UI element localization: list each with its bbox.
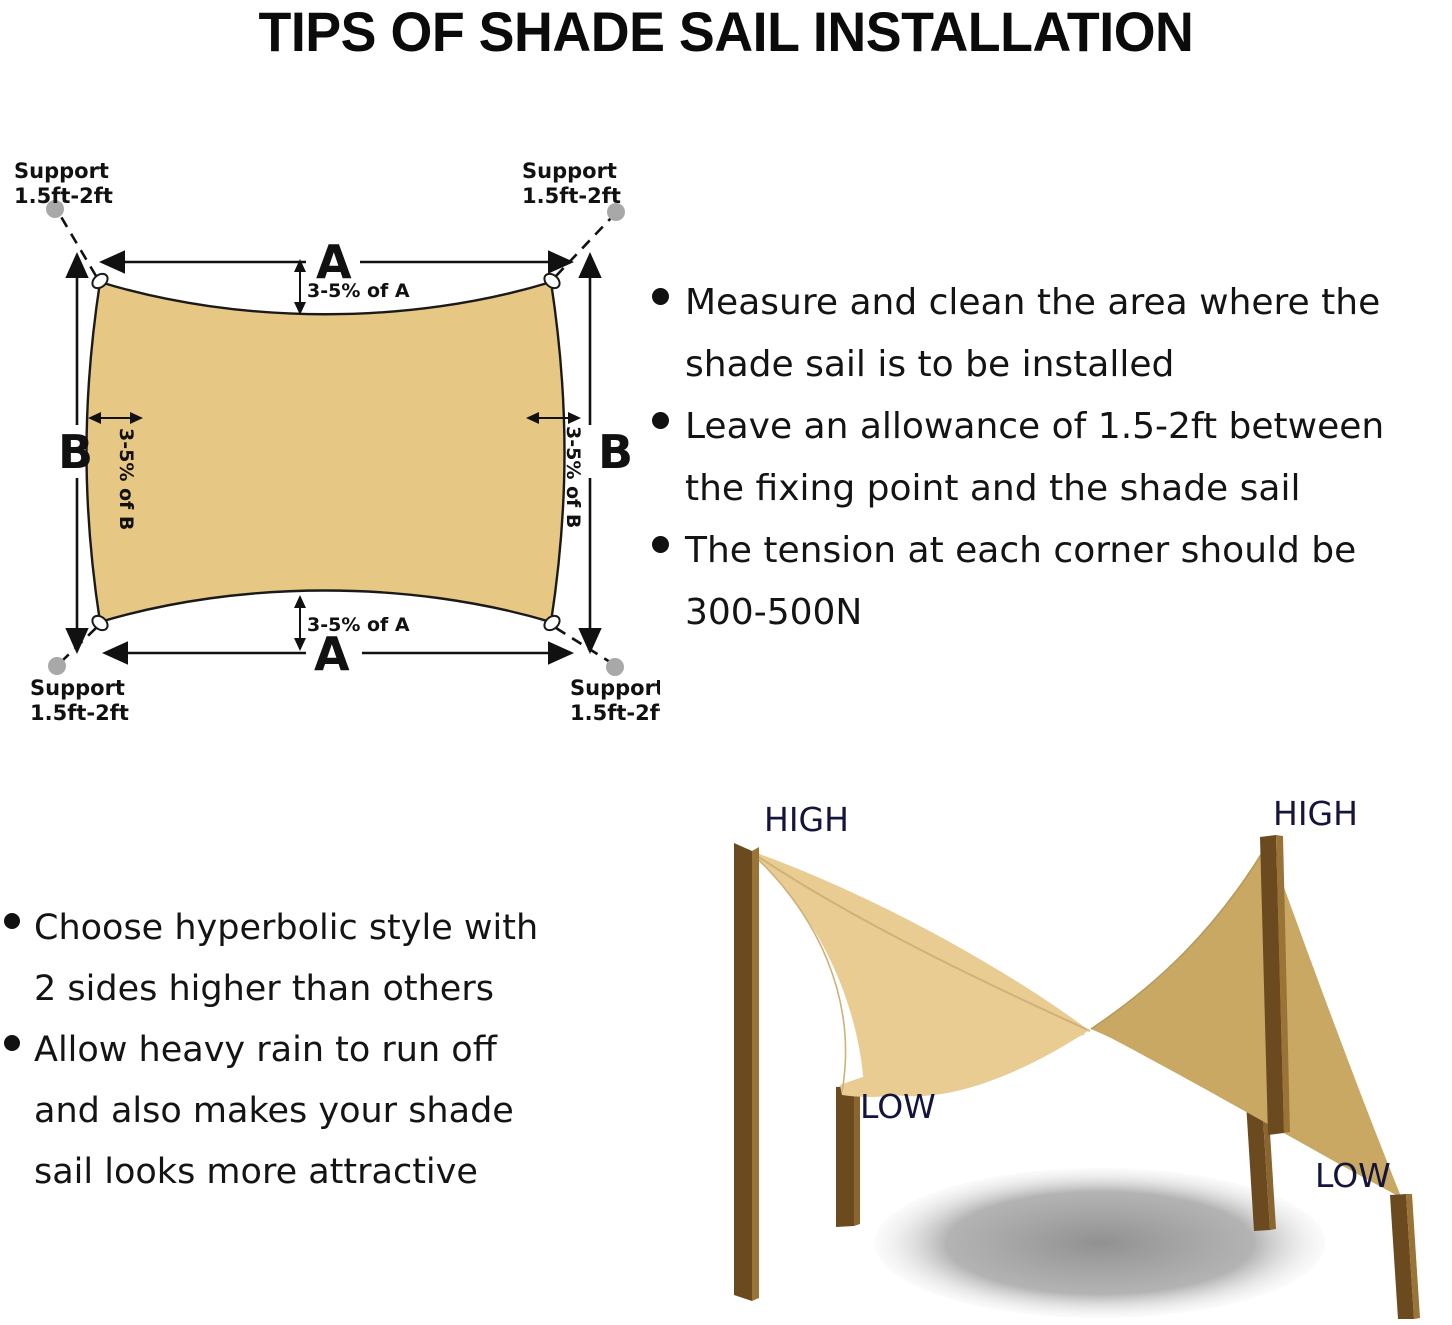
tips-list-top: Measure and clean the area where the sha…	[652, 272, 1452, 644]
label-high-right: HIGH	[1273, 795, 1358, 833]
svg-text:Support: Support	[570, 676, 660, 700]
list-item: Measure and clean the area where the	[652, 272, 1452, 334]
list-item-line: Choose hyperbolic style with	[34, 898, 538, 959]
bullet-dot-icon	[4, 913, 20, 929]
list-item: The tension at each corner should be	[652, 520, 1452, 582]
list-item-line: the fixing point and the shade sail	[685, 458, 1300, 520]
list-item-continuation: and also makes your shade	[4, 1081, 624, 1142]
support-label-bottom-left: Support 1.5ft-2ft	[30, 676, 129, 725]
bullet-spacer	[652, 598, 669, 615]
bullet-spacer	[652, 474, 669, 491]
support-label-top-left: Support 1.5ft-2ft	[14, 159, 113, 208]
svg-text:1.5ft-2ft: 1.5ft-2ft	[570, 701, 660, 725]
bullet-dot-icon	[4, 1035, 20, 1051]
support-label-bottom-right: Support 1.5ft-2ft	[570, 676, 660, 725]
support-label-top-right: Support 1.5ft-2ft	[522, 159, 621, 208]
page-header: TIPS OF SHADE SAIL INSTALLATION	[0, 0, 1452, 62]
label-low-right: LOW	[1315, 1156, 1391, 1195]
list-item: Allow heavy rain to run off	[4, 1020, 624, 1081]
dimension-b-right: B	[590, 278, 633, 628]
post-low-right-outer	[1390, 1194, 1420, 1319]
list-item-line: shade sail is to be installed	[685, 334, 1174, 396]
svg-text:1.5ft-2ft: 1.5ft-2ft	[14, 184, 113, 208]
bullet-spacer	[4, 1157, 20, 1173]
list-item-line: Measure and clean the area where the	[685, 272, 1380, 334]
svg-text:3-5% of B: 3-5% of B	[562, 426, 584, 528]
bullet-dot-icon	[652, 288, 669, 305]
bullet-dot-icon	[652, 536, 669, 553]
hyperbolic-sail-diagram: HIGH HIGH LOW LOW	[660, 795, 1452, 1325]
list-item-line: The tension at each corner should be	[685, 520, 1356, 582]
svg-text:1.5ft-2ft: 1.5ft-2ft	[522, 184, 621, 208]
list-item: Leave an allowance of 1.5-2ft between	[652, 396, 1452, 458]
post-high-left	[734, 843, 759, 1301]
svg-text:3-5% of A: 3-5% of A	[307, 280, 410, 302]
tips-list-bottom: Choose hyperbolic style with 2 sides hig…	[4, 898, 624, 1203]
list-item-continuation: sail looks more attractive	[4, 1142, 624, 1203]
list-item: Choose hyperbolic style with	[4, 898, 624, 959]
list-item-line: sail looks more attractive	[34, 1142, 478, 1203]
curve-depth-bottom: 3-5% of A	[300, 608, 410, 638]
label-high-left: HIGH	[764, 800, 849, 839]
list-item-continuation: 2 sides higher than others	[4, 959, 624, 1020]
page-title: TIPS OF SHADE SAIL INSTALLATION	[259, 0, 1194, 64]
list-item-line: 300-500N	[685, 582, 862, 644]
bullet-spacer	[652, 350, 669, 367]
list-item-continuation: the fixing point and the shade sail	[652, 458, 1452, 520]
bullet-dot-icon	[652, 412, 669, 429]
shade-sail-fabric	[87, 282, 565, 622]
svg-text:Support: Support	[14, 159, 109, 183]
list-item-line: Leave an allowance of 1.5-2ft between	[685, 396, 1384, 458]
bullet-spacer	[4, 974, 20, 990]
list-item-continuation: 300-500N	[652, 582, 1452, 644]
svg-text:3-5% of B: 3-5% of B	[115, 428, 137, 530]
svg-text:B: B	[58, 425, 93, 479]
list-item-continuation: shade sail is to be installed	[652, 334, 1452, 396]
rectangular-sail-diagram: Support 1.5ft-2ft Support 1.5ft-2ft Supp…	[0, 150, 660, 750]
svg-text:Support: Support	[30, 676, 125, 700]
svg-text:B: B	[598, 425, 633, 479]
label-low-left: LOW	[860, 1087, 936, 1126]
list-item-line: and also makes your shade	[34, 1081, 514, 1142]
svg-text:Support: Support	[522, 159, 617, 183]
post-low-left	[836, 1085, 860, 1227]
dimension-b-left: B	[58, 278, 93, 628]
sail-right-half	[1091, 843, 1402, 1199]
list-item-line: Allow heavy rain to run off	[34, 1020, 497, 1081]
list-item-line: 2 sides higher than others	[34, 959, 494, 1020]
svg-text:1.5ft-2ft: 1.5ft-2ft	[30, 701, 129, 725]
bullet-spacer	[4, 1096, 20, 1112]
svg-text:3-5% of A: 3-5% of A	[307, 614, 410, 636]
